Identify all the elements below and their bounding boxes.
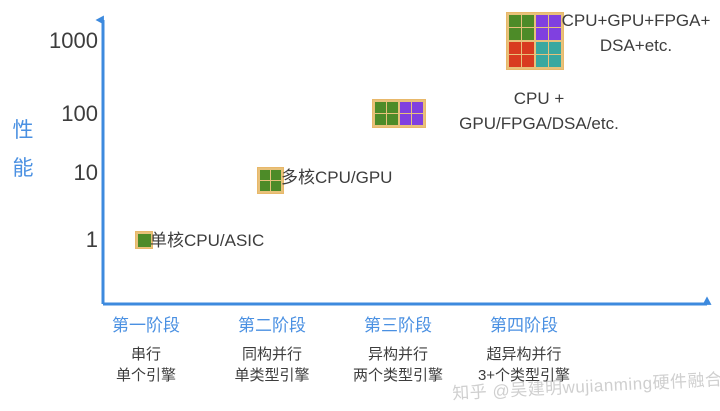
marker-cell-red [509,42,521,54]
marker-cell-green [375,102,386,113]
marker-cell-purple [400,102,411,113]
marker-cell-green [271,181,281,191]
x-tick-stage-4: 第四阶段 超异构并行 3+个类型引擎 [449,315,599,386]
marker-cell-green [138,234,151,247]
x-tick-stage-4-sub-2: 3+个类型引擎 [449,365,599,386]
x-tick-stage-4-sub-1: 超异构并行 [449,344,599,365]
marker-cell-red [522,55,534,67]
marker-cell-green [509,15,521,27]
marker-cell-purple [400,114,411,125]
marker-cell-green [271,170,281,180]
marker-cell-purple [536,15,548,27]
x-tick-stage-4-title: 第四阶段 [449,315,599,337]
marker-cell-green [522,28,534,40]
marker-cell-green [260,181,270,191]
data-point-label-3: CPU + GPU/FPGA/DSA/etc. [420,86,658,136]
y-tick-label-1: 1 [18,227,98,253]
marker-cell-purple [536,28,548,40]
marker-cell-green [509,28,521,40]
data-point-label-2: 多核CPU/GPU [281,165,392,190]
marker-cell-green [522,15,534,27]
marker-cell-red [522,42,534,54]
y-tick-label-1000: 1000 [18,28,98,54]
marker-cell-red [509,55,521,67]
performance-evolution-chart: 性 能 1000 100 10 1 单核CPU/ASIC多核CPU/GPUCPU… [0,0,720,411]
marker-cell-green [387,114,398,125]
marker-cell-teal [536,42,548,54]
y-tick-label-10: 10 [18,160,98,186]
data-point-label-1: 单核CPU/ASIC [150,228,264,253]
marker-cell-green [375,114,386,125]
marker-cell-green [387,102,398,113]
data-point-label-4: CPU+GPU+FPGA+ DSA+etc. [552,8,720,58]
data-point-marker-3 [372,99,426,128]
marker-cell-green [260,170,270,180]
data-point-marker-2 [257,167,284,194]
marker-cell-teal [536,55,548,67]
y-tick-label-100: 100 [18,101,98,127]
